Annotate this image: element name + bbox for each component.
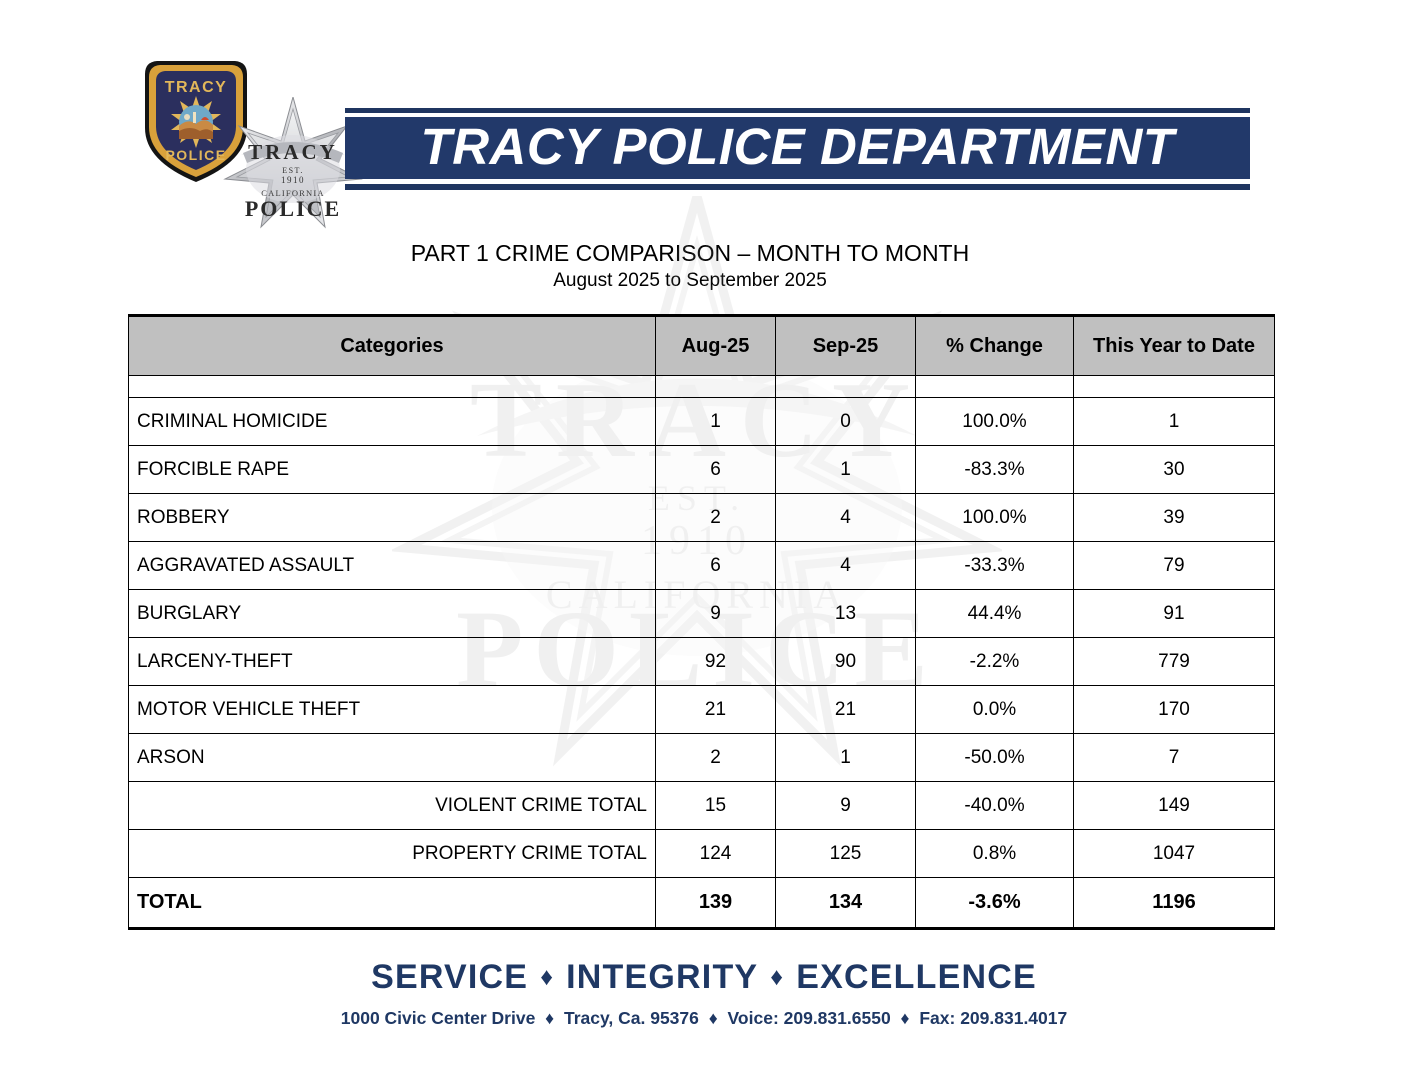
column-header-sep: Sep-25 (776, 316, 916, 376)
crime-comparison-table: Categories Aug-25 Sep-25 % Change This Y… (128, 314, 1275, 930)
banner-title: TRACY POLICE DEPARTMENT (345, 117, 1250, 179)
cell-category: BURGLARY (129, 590, 656, 638)
table-row: ROBBERY24100.0%39 (129, 494, 1275, 542)
cell-category: LARCENY-THEFT (129, 638, 656, 686)
diamond-separator-icon: ♦ (891, 1008, 920, 1028)
cell-ytd: 30 (1074, 446, 1275, 494)
table-row: VIOLENT CRIME TOTAL159-40.0%149 (129, 782, 1275, 830)
cell-aug: 139 (656, 878, 776, 929)
cell-sep: 1 (776, 446, 916, 494)
cell-sep: 21 (776, 686, 916, 734)
cell-ytd: 91 (1074, 590, 1275, 638)
column-header-categories: Categories (129, 316, 656, 376)
cell-sep: 9 (776, 782, 916, 830)
table-body: CRIMINAL HOMICIDE10100.0%1FORCIBLE RAPE6… (129, 376, 1275, 929)
cell-ytd: 1196 (1074, 878, 1275, 929)
table-row: FORCIBLE RAPE61-83.3%30 (129, 446, 1275, 494)
table-header-row: Categories Aug-25 Sep-25 % Change This Y… (129, 316, 1275, 376)
diamond-separator-icon: ♦ (535, 1008, 564, 1028)
cell-change: 0.8% (916, 830, 1074, 878)
cell-change: 44.4% (916, 590, 1074, 638)
cell-sep: 134 (776, 878, 916, 929)
cell-ytd: 779 (1074, 638, 1275, 686)
cell-change: -33.3% (916, 542, 1074, 590)
table-row: ARSON21-50.0%7 (129, 734, 1275, 782)
cell-ytd: 170 (1074, 686, 1275, 734)
page-title: PART 1 CRIME COMPARISON – MONTH TO MONTH (0, 240, 1380, 267)
table-row: PROPERTY CRIME TOTAL1241250.8%1047 (129, 830, 1275, 878)
cell-aug: 6 (656, 542, 776, 590)
cell-change: 100.0% (916, 494, 1074, 542)
cell-aug: 124 (656, 830, 776, 878)
table-row: AGGRAVATED ASSAULT64-33.3%79 (129, 542, 1275, 590)
diamond-separator-icon: ♦ (758, 963, 796, 991)
svg-text:TRACY: TRACY (248, 140, 338, 164)
cell-change: 100.0% (916, 398, 1074, 446)
banner: TRACY POLICE DEPARTMENT (345, 108, 1250, 192)
page-header: TRACY POLICE (0, 0, 1408, 230)
cell-category: TOTAL (129, 878, 656, 929)
cell-aug: 6 (656, 446, 776, 494)
cell-sep: 90 (776, 638, 916, 686)
table-row: TOTAL139134-3.6%1196 (129, 878, 1275, 929)
svg-text:1910: 1910 (281, 175, 305, 185)
banner-rule-top (345, 108, 1250, 113)
address-part: 1000 Civic Center Drive (341, 1008, 536, 1028)
table-row: BURGLARY91344.4%91 (129, 590, 1275, 638)
cell-category: ARSON (129, 734, 656, 782)
cell-change: -83.3% (916, 446, 1074, 494)
motto-word: EXCELLENCE (796, 958, 1037, 996)
cell-category: CRIMINAL HOMICIDE (129, 398, 656, 446)
cell-sep: 4 (776, 542, 916, 590)
cell-ytd: 1047 (1074, 830, 1275, 878)
cell-change: -40.0% (916, 782, 1074, 830)
address-part: Fax: 209.831.4017 (919, 1008, 1067, 1028)
cell-aug: 2 (656, 494, 776, 542)
cell-sep: 1 (776, 734, 916, 782)
cell-aug: 15 (656, 782, 776, 830)
table-row: LARCENY-THEFT9290-2.2%779 (129, 638, 1275, 686)
table-row: CRIMINAL HOMICIDE10100.0%1 (129, 398, 1275, 446)
banner-rule-bottom (345, 184, 1250, 190)
cell-change: -2.2% (916, 638, 1074, 686)
cell-aug: 92 (656, 638, 776, 686)
cell-category: VIOLENT CRIME TOTAL (129, 782, 656, 830)
cell-sep: 4 (776, 494, 916, 542)
cell-category: FORCIBLE RAPE (129, 446, 656, 494)
cell-ytd: 149 (1074, 782, 1275, 830)
cell-ytd: 79 (1074, 542, 1275, 590)
column-header-change: % Change (916, 316, 1074, 376)
cell-category: ROBBERY (129, 494, 656, 542)
cell-sep: 13 (776, 590, 916, 638)
cell-ytd: 39 (1074, 494, 1275, 542)
cell-change: 0.0% (916, 686, 1074, 734)
department-motto: SERVICE♦INTEGRITY♦EXCELLENCE (0, 958, 1408, 997)
page-footer: SERVICE♦INTEGRITY♦EXCELLENCE 1000 Civic … (0, 958, 1408, 1029)
table-spacer-row (129, 376, 1275, 398)
cell-category: AGGRAVATED ASSAULT (129, 542, 656, 590)
crime-comparison-table-wrap: Categories Aug-25 Sep-25 % Change This Y… (128, 314, 1274, 930)
column-header-ytd: This Year to Date (1074, 316, 1275, 376)
cell-aug: 1 (656, 398, 776, 446)
motto-word: INTEGRITY (566, 958, 758, 996)
svg-text:TRACY: TRACY (165, 79, 228, 96)
cell-ytd: 1 (1074, 398, 1275, 446)
cell-aug: 9 (656, 590, 776, 638)
svg-text:POLICE: POLICE (245, 196, 341, 221)
cell-change: -50.0% (916, 734, 1074, 782)
cell-sep: 0 (776, 398, 916, 446)
address-part: Tracy, Ca. 95376 (564, 1008, 699, 1028)
diamond-separator-icon: ♦ (528, 963, 566, 991)
svg-text:POLICE: POLICE (165, 147, 226, 163)
cell-sep: 125 (776, 830, 916, 878)
address-part: Voice: 209.831.6550 (728, 1008, 891, 1028)
column-header-aug: Aug-25 (656, 316, 776, 376)
diamond-separator-icon: ♦ (699, 1008, 728, 1028)
tracy-police-star-badge-icon: TRACY EST. 1910 CALIFORNIA POLICE (222, 97, 364, 237)
cell-category: PROPERTY CRIME TOTAL (129, 830, 656, 878)
page-subtitle: August 2025 to September 2025 (0, 270, 1380, 292)
cell-ytd: 7 (1074, 734, 1275, 782)
cell-aug: 2 (656, 734, 776, 782)
department-address: 1000 Civic Center Drive ♦ Tracy, Ca. 953… (0, 1008, 1408, 1029)
cell-category: MOTOR VEHICLE THEFT (129, 686, 656, 734)
motto-word: SERVICE (371, 958, 528, 996)
cell-aug: 21 (656, 686, 776, 734)
table-row: MOTOR VEHICLE THEFT21210.0%170 (129, 686, 1275, 734)
svg-text:EST.: EST. (282, 166, 304, 175)
cell-change: -3.6% (916, 878, 1074, 929)
